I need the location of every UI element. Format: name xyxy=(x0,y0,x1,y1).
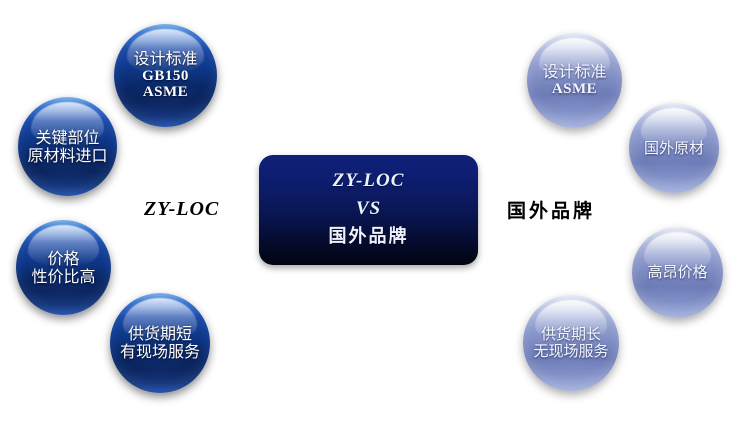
bubble-foreign-material[interactable]: 国外原材 xyxy=(629,103,719,193)
bubble-label-line2: 无现场服务 xyxy=(533,343,608,360)
bubble-label-line1: 国外原材 xyxy=(644,140,704,157)
bubble-foreign-high-price[interactable]: 高昂价格 xyxy=(632,227,723,318)
bubble-label-line1: 设计标准 xyxy=(542,63,606,81)
center-comparison-panel: ZY-LOC VS 国外品牌 xyxy=(259,155,478,265)
bubble-foreign-delivery-service[interactable]: 供货期长 无现场服务 xyxy=(523,295,619,391)
bubble-label-line1: 价格 xyxy=(47,250,79,268)
bubble-zyloc-delivery-service[interactable]: 供货期短 有现场服务 xyxy=(110,293,210,393)
bubble-label-line1: 供货期短 xyxy=(128,325,192,343)
bubble-foreign-design-standard[interactable]: 设计标准 ASME xyxy=(527,33,622,128)
bubble-zyloc-design-standard[interactable]: 设计标准 GB150 ASME xyxy=(114,24,217,127)
comparison-diagram-canvas: ZY-LOC VS 国外品牌 ZY-LOC 国外品牌 设计标准 GB150 AS… xyxy=(0,0,749,423)
center-line-foreign: 国外品牌 xyxy=(329,228,409,247)
caption-right-foreign: 国外品牌 xyxy=(507,196,595,223)
bubble-label-line3: ASME xyxy=(143,84,188,101)
bubble-zyloc-price[interactable]: 价格 性价比高 xyxy=(16,220,111,315)
center-line-vs: VS xyxy=(356,199,381,219)
bubble-zyloc-key-raw-material[interactable]: 关键部位 原材料进口 xyxy=(18,97,117,196)
center-line-zyloc: ZY-LOC xyxy=(333,171,405,191)
bubble-label-line1: 设计标准 xyxy=(133,50,197,68)
bubble-label-line2: 有现场服务 xyxy=(120,343,200,361)
bubble-label-line1: 供货期长 xyxy=(541,326,601,343)
caption-left-zyloc: ZY-LOC xyxy=(144,198,219,221)
bubble-label-line1: 高昂价格 xyxy=(647,264,707,281)
bubble-label-line2: GB150 xyxy=(142,68,189,85)
bubble-label-line2: 原材料进口 xyxy=(27,147,107,165)
bubble-label-line2: ASME xyxy=(552,81,597,98)
bubble-label-line1: 关键部位 xyxy=(35,129,99,147)
bubble-label-line2: 性价比高 xyxy=(31,268,95,286)
